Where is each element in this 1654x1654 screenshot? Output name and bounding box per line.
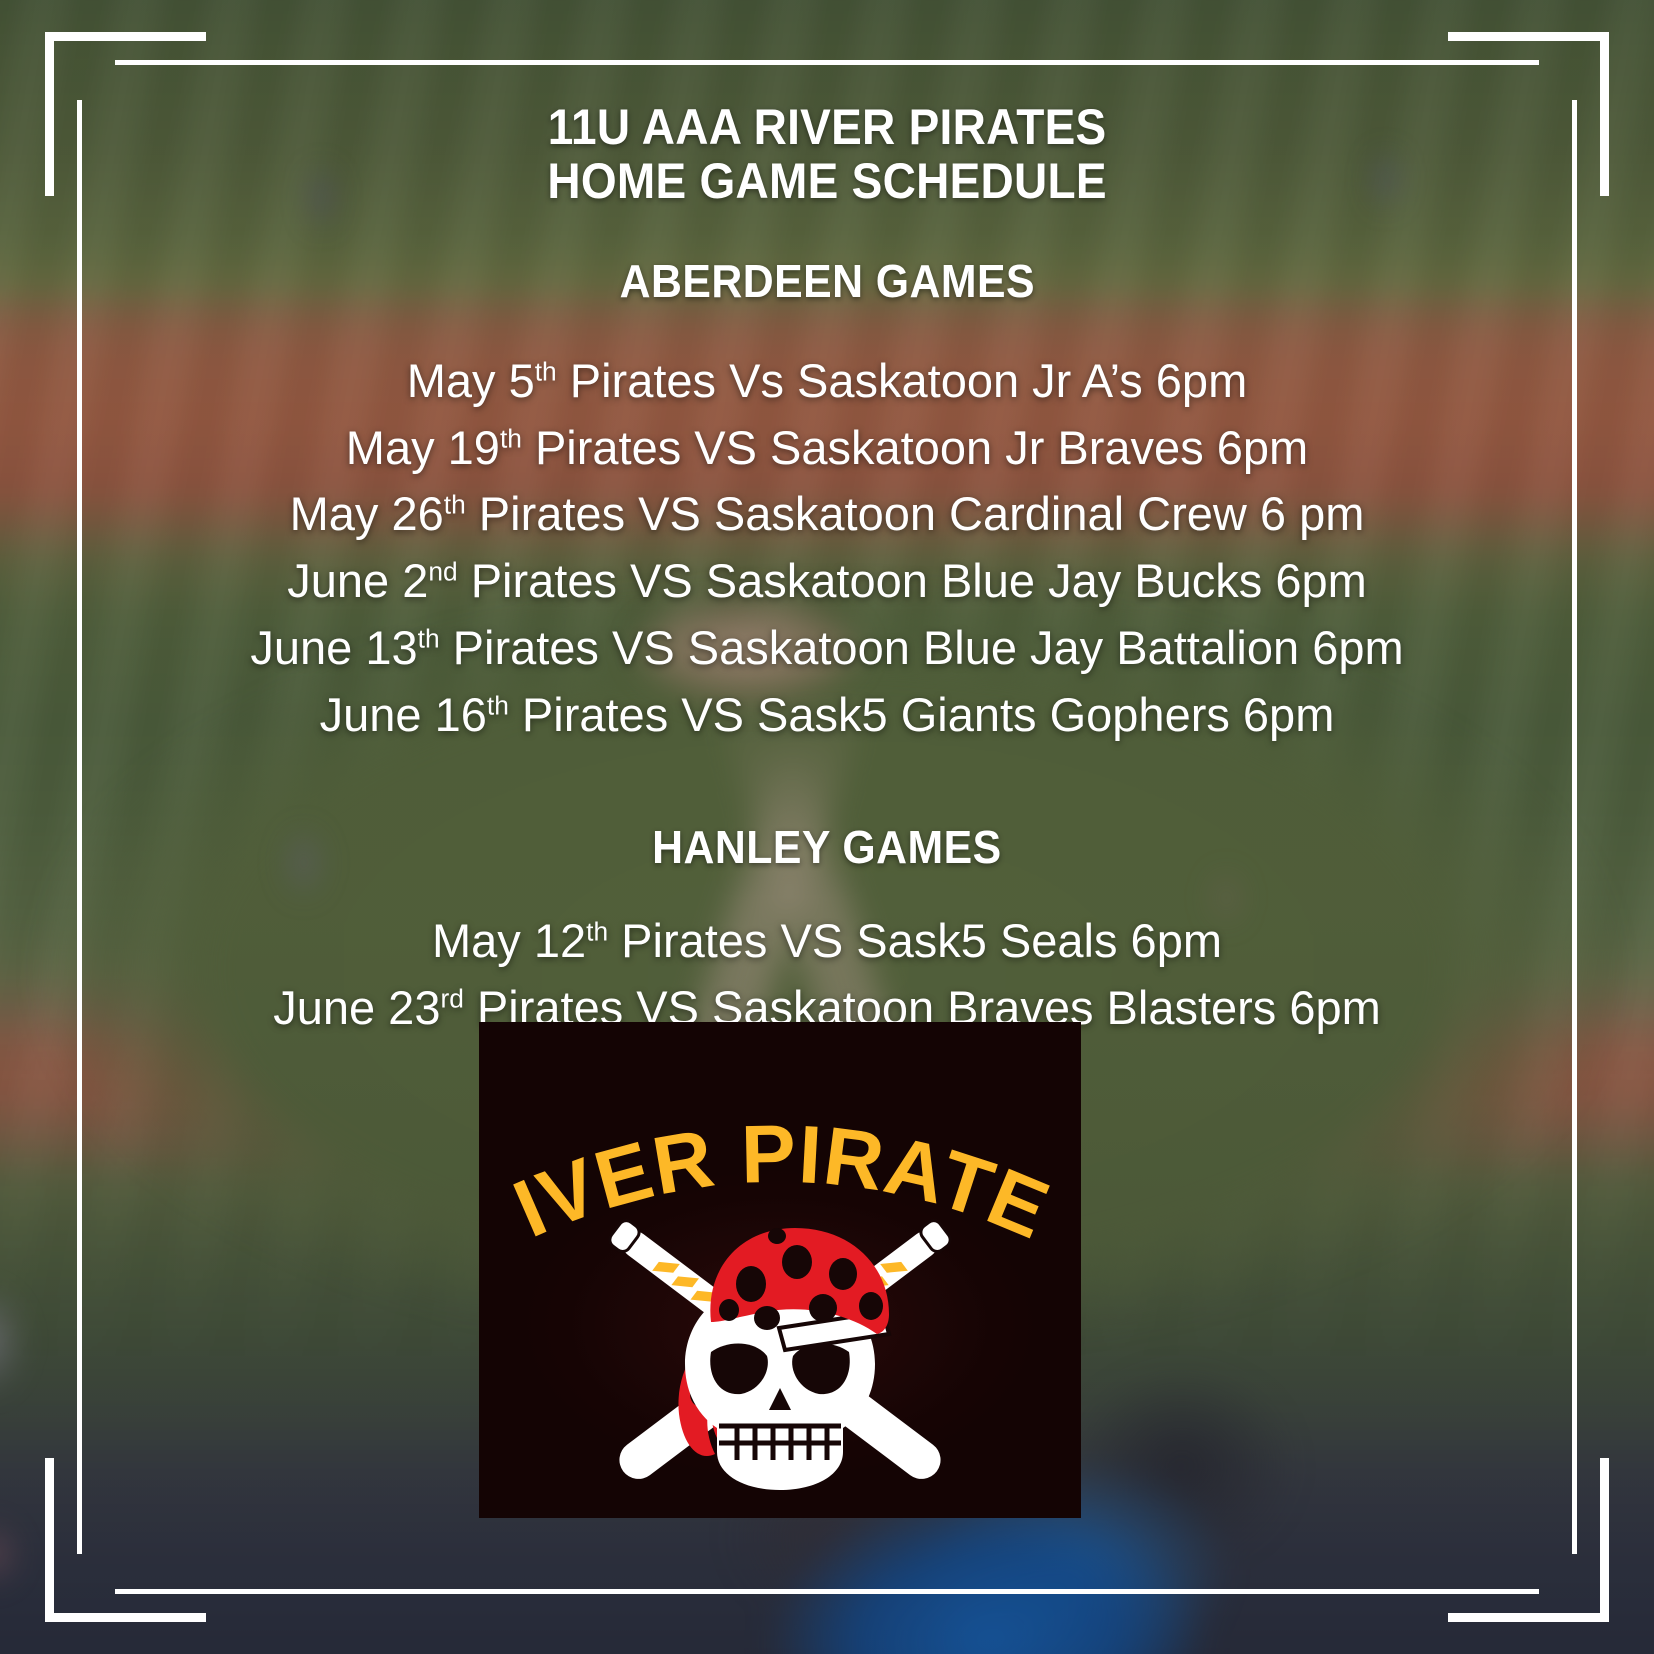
game-date: June 23 — [273, 981, 440, 1034]
game-date: May 5 — [407, 354, 535, 407]
date-ordinal-suffix: th — [444, 490, 466, 520]
date-ordinal-suffix: th — [487, 690, 509, 720]
game-list-aberdeen: May 5th Pirates Vs Saskatoon Jr A’s 6pm … — [250, 348, 1403, 748]
date-ordinal-suffix: rd — [440, 983, 463, 1013]
date-ordinal-suffix: th — [586, 917, 608, 947]
game-matchup: Pirates VS Saskatoon Blue Jay Battalion … — [440, 621, 1404, 674]
game-date: June 16 — [320, 688, 487, 741]
poster: 11U AAA RIVER PIRATES HOME GAME SCHEDULE… — [0, 0, 1654, 1654]
date-ordinal-suffix: th — [500, 423, 522, 453]
game-date: June 13 — [250, 621, 417, 674]
game-date: June 2 — [287, 554, 428, 607]
game-row: May 19th Pirates VS Saskatoon Jr Braves … — [250, 415, 1403, 482]
game-row: June 13th Pirates VS Saskatoon Blue Jay … — [250, 615, 1403, 682]
game-row: May 26th Pirates VS Saskatoon Cardinal C… — [250, 481, 1403, 548]
game-row: June 2nd Pirates VS Saskatoon Blue Jay B… — [250, 548, 1403, 615]
game-row: May 5th Pirates Vs Saskatoon Jr A’s 6pm — [250, 348, 1403, 415]
game-row: June 16th Pirates VS Sask5 Giants Gopher… — [250, 682, 1403, 749]
date-ordinal-suffix: nd — [428, 557, 457, 587]
game-matchup: Pirates Vs Saskatoon Jr A’s 6pm — [557, 354, 1248, 407]
logo-wordmark: RIVER PIRATES — [479, 1022, 1062, 1257]
date-ordinal-suffix: th — [418, 623, 440, 653]
river-pirates-emblem-icon: RIVER PIRATES — [479, 1022, 1081, 1518]
game-matchup: Pirates VS Saskatoon Jr Braves 6pm — [522, 421, 1308, 474]
page-title: 11U AAA RIVER PIRATES HOME GAME SCHEDULE — [547, 100, 1107, 208]
game-matchup: Pirates VS Saskatoon Blue Jay Bucks 6pm — [458, 554, 1367, 607]
game-matchup: Pirates VS Saskatoon Cardinal Crew 6 pm — [466, 487, 1365, 540]
title-line-1: 11U AAA RIVER PIRATES — [547, 100, 1107, 154]
game-matchup: Pirates VS Sask5 Giants Gophers 6pm — [509, 688, 1334, 741]
section-heading-aberdeen: ABERDEEN GAMES — [619, 254, 1034, 308]
team-logo: RIVER PIRATES — [479, 1022, 1081, 1518]
game-date: May 26 — [290, 487, 444, 540]
title-line-2: HOME GAME SCHEDULE — [547, 154, 1107, 208]
section-heading-hanley: HANLEY GAMES — [652, 820, 1001, 874]
date-ordinal-suffix: th — [535, 356, 557, 386]
game-matchup: Pirates VS Sask5 Seals 6pm — [608, 914, 1222, 967]
game-date: May 12 — [432, 914, 586, 967]
game-date: May 19 — [346, 421, 500, 474]
game-row: May 12th Pirates VS Sask5 Seals 6pm — [273, 908, 1381, 975]
